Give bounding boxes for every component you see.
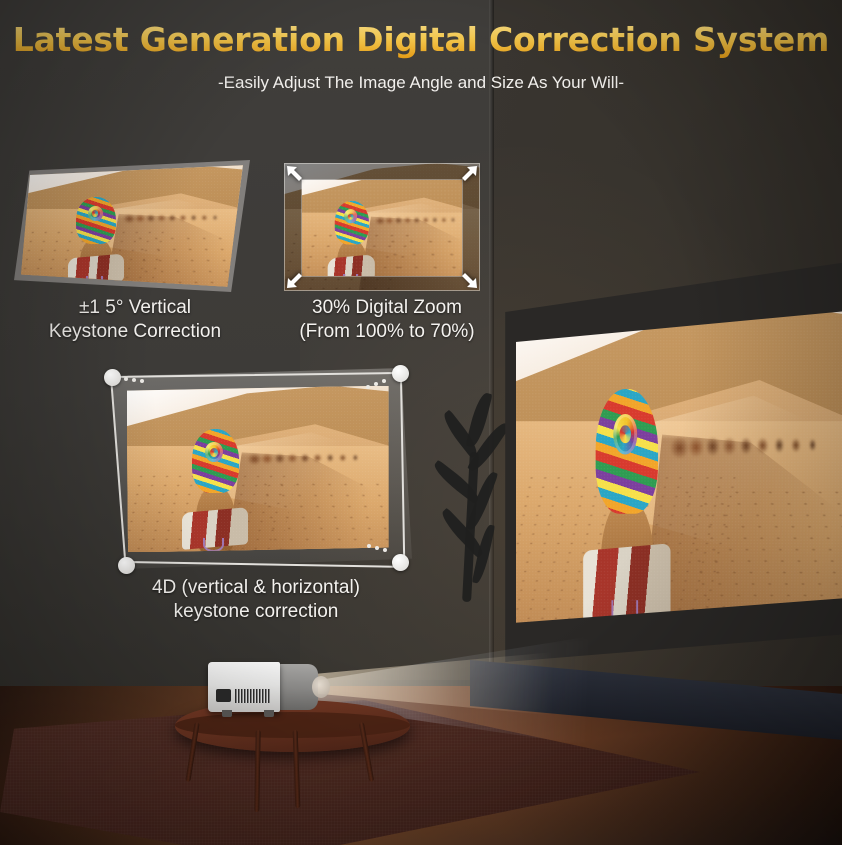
zoom-arrow-bottom-right-icon [456, 267, 480, 291]
digital-zoom-caption: 30% Digital Zoom (From 100% to 70%) [272, 296, 502, 345]
promo-graphic: ±1 5° Vertical Keystone Correction [0, 0, 842, 845]
keystone-corrected-image [127, 386, 389, 553]
projector-port-panel [216, 689, 231, 702]
projector-vent-grille [235, 689, 270, 703]
corner-handle-top-right[interactable] [392, 365, 409, 382]
digital-zoom-diagram [284, 163, 480, 291]
corner-handle-bottom-right[interactable] [392, 554, 409, 571]
projector-body [208, 662, 280, 712]
zoom-arrow-top-right-icon [456, 163, 480, 187]
vertical-keystone-caption: ±1 5° Vertical Keystone Correction [0, 296, 270, 345]
page-subtitle: -Easily Adjust The Image Angle and Size … [0, 73, 842, 93]
caption-line-1: 4D (vertical & horizontal) [96, 576, 416, 600]
keystone-distorted-image [21, 165, 243, 286]
zoom-arrow-top-left-icon [284, 163, 308, 187]
projector-lens [312, 676, 330, 698]
caption-line-2: (From 100% to 70%) [272, 320, 502, 344]
caption-line-2: Keystone Correction [0, 320, 270, 344]
page-title: Latest Generation Digital Correction Sys… [0, 20, 842, 59]
zoom-arrow-bottom-left-icon [284, 267, 308, 291]
projector-foot [264, 710, 274, 717]
desert-camel-image [516, 311, 842, 623]
caption-line-2: keystone correction [96, 600, 416, 624]
corner-handle-bottom-left[interactable] [118, 557, 135, 574]
vertical-keystone-diagram [14, 160, 250, 292]
corner-handle-top-left[interactable] [104, 369, 121, 386]
zoom-cropped-image [302, 180, 463, 276]
four-d-keystone-diagram [100, 365, 412, 571]
projector-device [208, 662, 320, 714]
caption-line-1: 30% Digital Zoom [272, 296, 502, 320]
projected-screen [500, 262, 842, 662]
screen-image [516, 311, 842, 623]
caption-line-1: ±1 5° Vertical [0, 296, 270, 320]
projector-foot [222, 710, 232, 717]
four-d-keystone-caption: 4D (vertical & horizontal) keystone corr… [96, 576, 416, 625]
